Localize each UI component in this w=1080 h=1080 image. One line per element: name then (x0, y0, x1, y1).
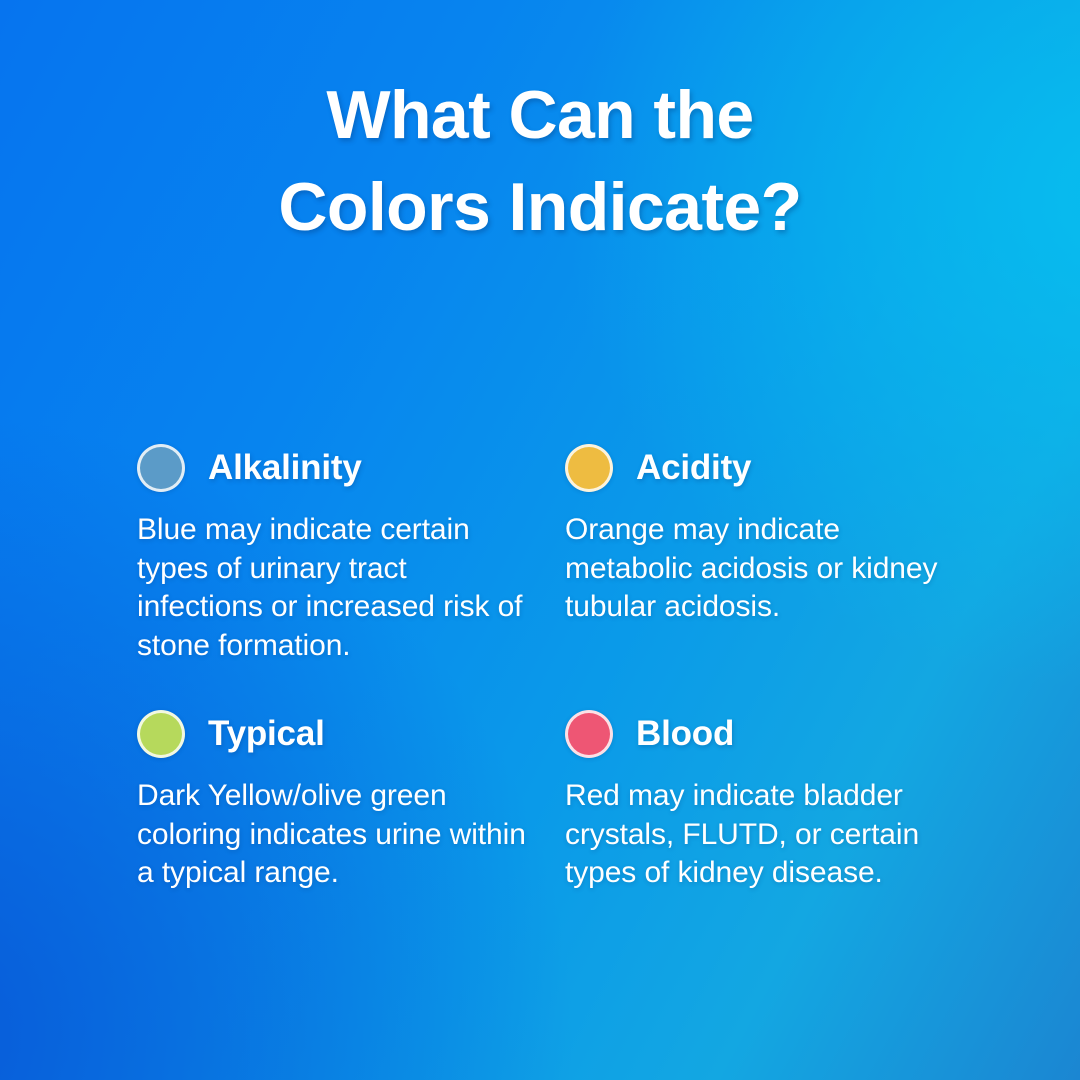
legend-item-header: Alkalinity (137, 437, 537, 499)
legend-item-header: Acidity (565, 437, 965, 499)
legend-item-description: Orange may indicate metabolic acidosis o… (565, 511, 957, 627)
legend-item-label: Acidity (636, 448, 751, 488)
legend-item-description: Blue may indicate certain types of urina… (137, 511, 529, 665)
page-title-line-2: Colors Indicate? (60, 161, 1020, 253)
infographic-canvas: What Can the Colors Indicate? Alkalinity… (0, 0, 1080, 1080)
page-title: What Can the Colors Indicate? (0, 69, 1080, 253)
olive-green-color-swatch (137, 710, 185, 758)
legend-item-acidity: Acidity Orange may indicate metabolic ac… (565, 437, 965, 665)
legend-item-alkalinity: Alkalinity Blue may indicate certain typ… (137, 437, 537, 665)
legend-item-description: Dark Yellow/olive green coloring indicat… (137, 777, 529, 893)
page-title-line-1: What Can the (60, 69, 1020, 161)
legend-item-blood: Blood Red may indicate bladder crystals,… (565, 665, 965, 893)
legend-item-header: Typical (137, 703, 537, 765)
legend-item-label: Typical (208, 714, 325, 754)
legend-item-label: Alkalinity (208, 448, 362, 488)
orange-color-swatch (565, 444, 613, 492)
legend-item-label: Blood (636, 714, 734, 754)
legend-item-description: Red may indicate bladder crystals, FLUTD… (565, 777, 957, 893)
legend-item-header: Blood (565, 703, 965, 765)
blue-color-swatch (137, 444, 185, 492)
color-legend-grid: Alkalinity Blue may indicate certain typ… (137, 437, 997, 893)
red-color-swatch (565, 710, 613, 758)
legend-item-typical: Typical Dark Yellow/olive green coloring… (137, 665, 537, 893)
